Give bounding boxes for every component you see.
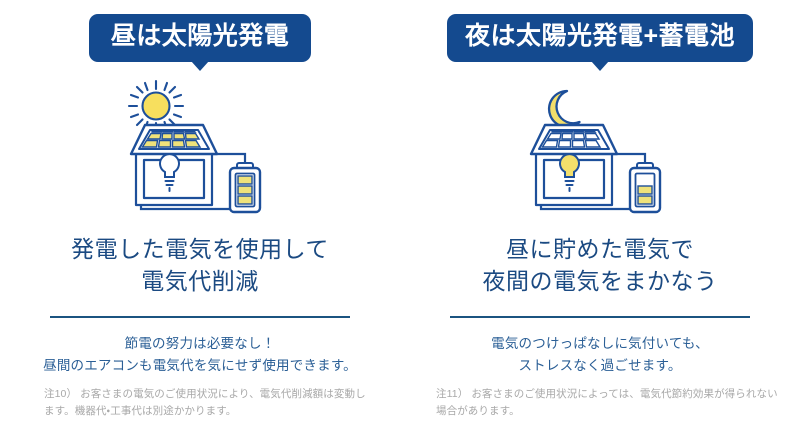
badge-tail-icon: [591, 61, 609, 71]
subtext-line: 電気のつけっぱなしに気付いても、: [491, 333, 709, 355]
battery-icon: [230, 163, 260, 212]
divider-nighttime: [450, 316, 750, 318]
illustration-nighttime: [495, 77, 705, 217]
subtext-nighttime: 電気のつけっぱなしに気付いても、 ストレスなく過ごせます。: [491, 333, 709, 377]
badge-nighttime-label: 夜は太陽光発電+蓄電池: [447, 14, 753, 62]
note-nighttime: 注11） お客さまのご使用状況によっては、電気代節約効果が得られない場合がありま…: [436, 386, 778, 419]
subtext-line: ストレスなく過ごせます。: [491, 355, 709, 377]
note-daytime: 注10） お客さまの電気のご使用状況により、電気代削減額は変動します。機器代・工…: [44, 386, 370, 419]
headline-line: 夜間の電気をまかなう: [483, 265, 718, 298]
battery-icon: [630, 163, 660, 212]
badge-nighttime: 夜は太陽光発電+蓄電池: [447, 14, 753, 71]
panel-nighttime-battery: 夜は太陽光発電+蓄電池: [400, 0, 800, 438]
subtext-line: 昼間のエアコンも電気代を気にせず使用できます。: [43, 355, 357, 377]
headline-nighttime: 昼に貯めた電気で 夜間の電気をまかなう: [483, 233, 718, 298]
solar-panel-roof-icon: [531, 125, 617, 154]
moon-icon: [549, 91, 579, 127]
badge-daytime-label: 昼は太陽光発電: [89, 14, 312, 62]
headline-line: 発電した電気を使用して: [71, 233, 329, 266]
badge-tail-icon: [191, 61, 209, 71]
illustration-daytime: [95, 77, 305, 217]
headline-daytime: 発電した電気を使用して 電気代削減: [71, 233, 329, 298]
comparison-board: 昼は太陽光発電: [0, 0, 800, 438]
headline-line: 昼に貯めた電気で: [483, 233, 718, 266]
badge-daytime: 昼は太陽光発電: [89, 14, 312, 71]
divider-daytime: [50, 316, 350, 318]
sun-disc-icon: [143, 92, 170, 119]
subtext-daytime: 節電の努力は必要なし！ 昼間のエアコンも電気代を気にせず使用できます。: [43, 333, 357, 377]
panel-daytime-solar: 昼は太陽光発電: [0, 0, 400, 438]
solar-panel-roof-icon: [131, 125, 217, 154]
subtext-line: 節電の努力は必要なし！: [43, 333, 357, 355]
headline-line: 電気代削減: [71, 265, 329, 298]
battery-level-bars: [238, 176, 252, 204]
